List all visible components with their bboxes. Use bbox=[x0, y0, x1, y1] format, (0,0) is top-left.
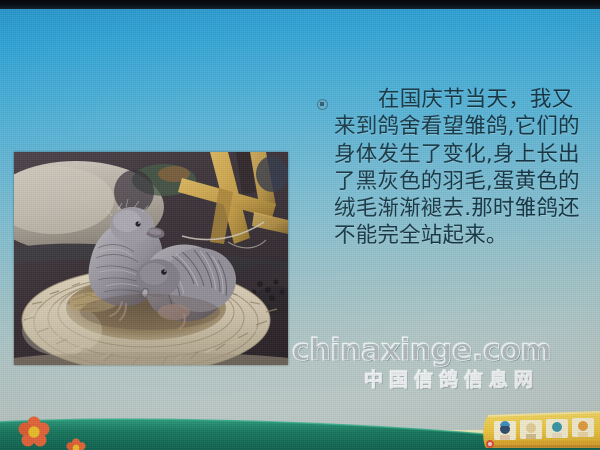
slide-screenshot: 在国庆节当天，我又来到鸽舍看望雏鸽,它们的身体发生了变化,身上长出了黑灰色的羽毛… bbox=[0, 0, 600, 450]
school-bus-decoration bbox=[483, 412, 600, 448]
bottom-decoration bbox=[0, 404, 600, 450]
screen-bezel-top bbox=[0, 0, 600, 9]
pigeon-nest-photo bbox=[14, 152, 288, 365]
slide-body-text: 在国庆节当天，我又来到鸽舍看望雏鸽,它们的身体发生了变化,身上长出了黑灰色的羽毛… bbox=[334, 86, 592, 250]
bullet-marker-icon bbox=[317, 99, 328, 110]
bullet-dot bbox=[320, 102, 324, 106]
